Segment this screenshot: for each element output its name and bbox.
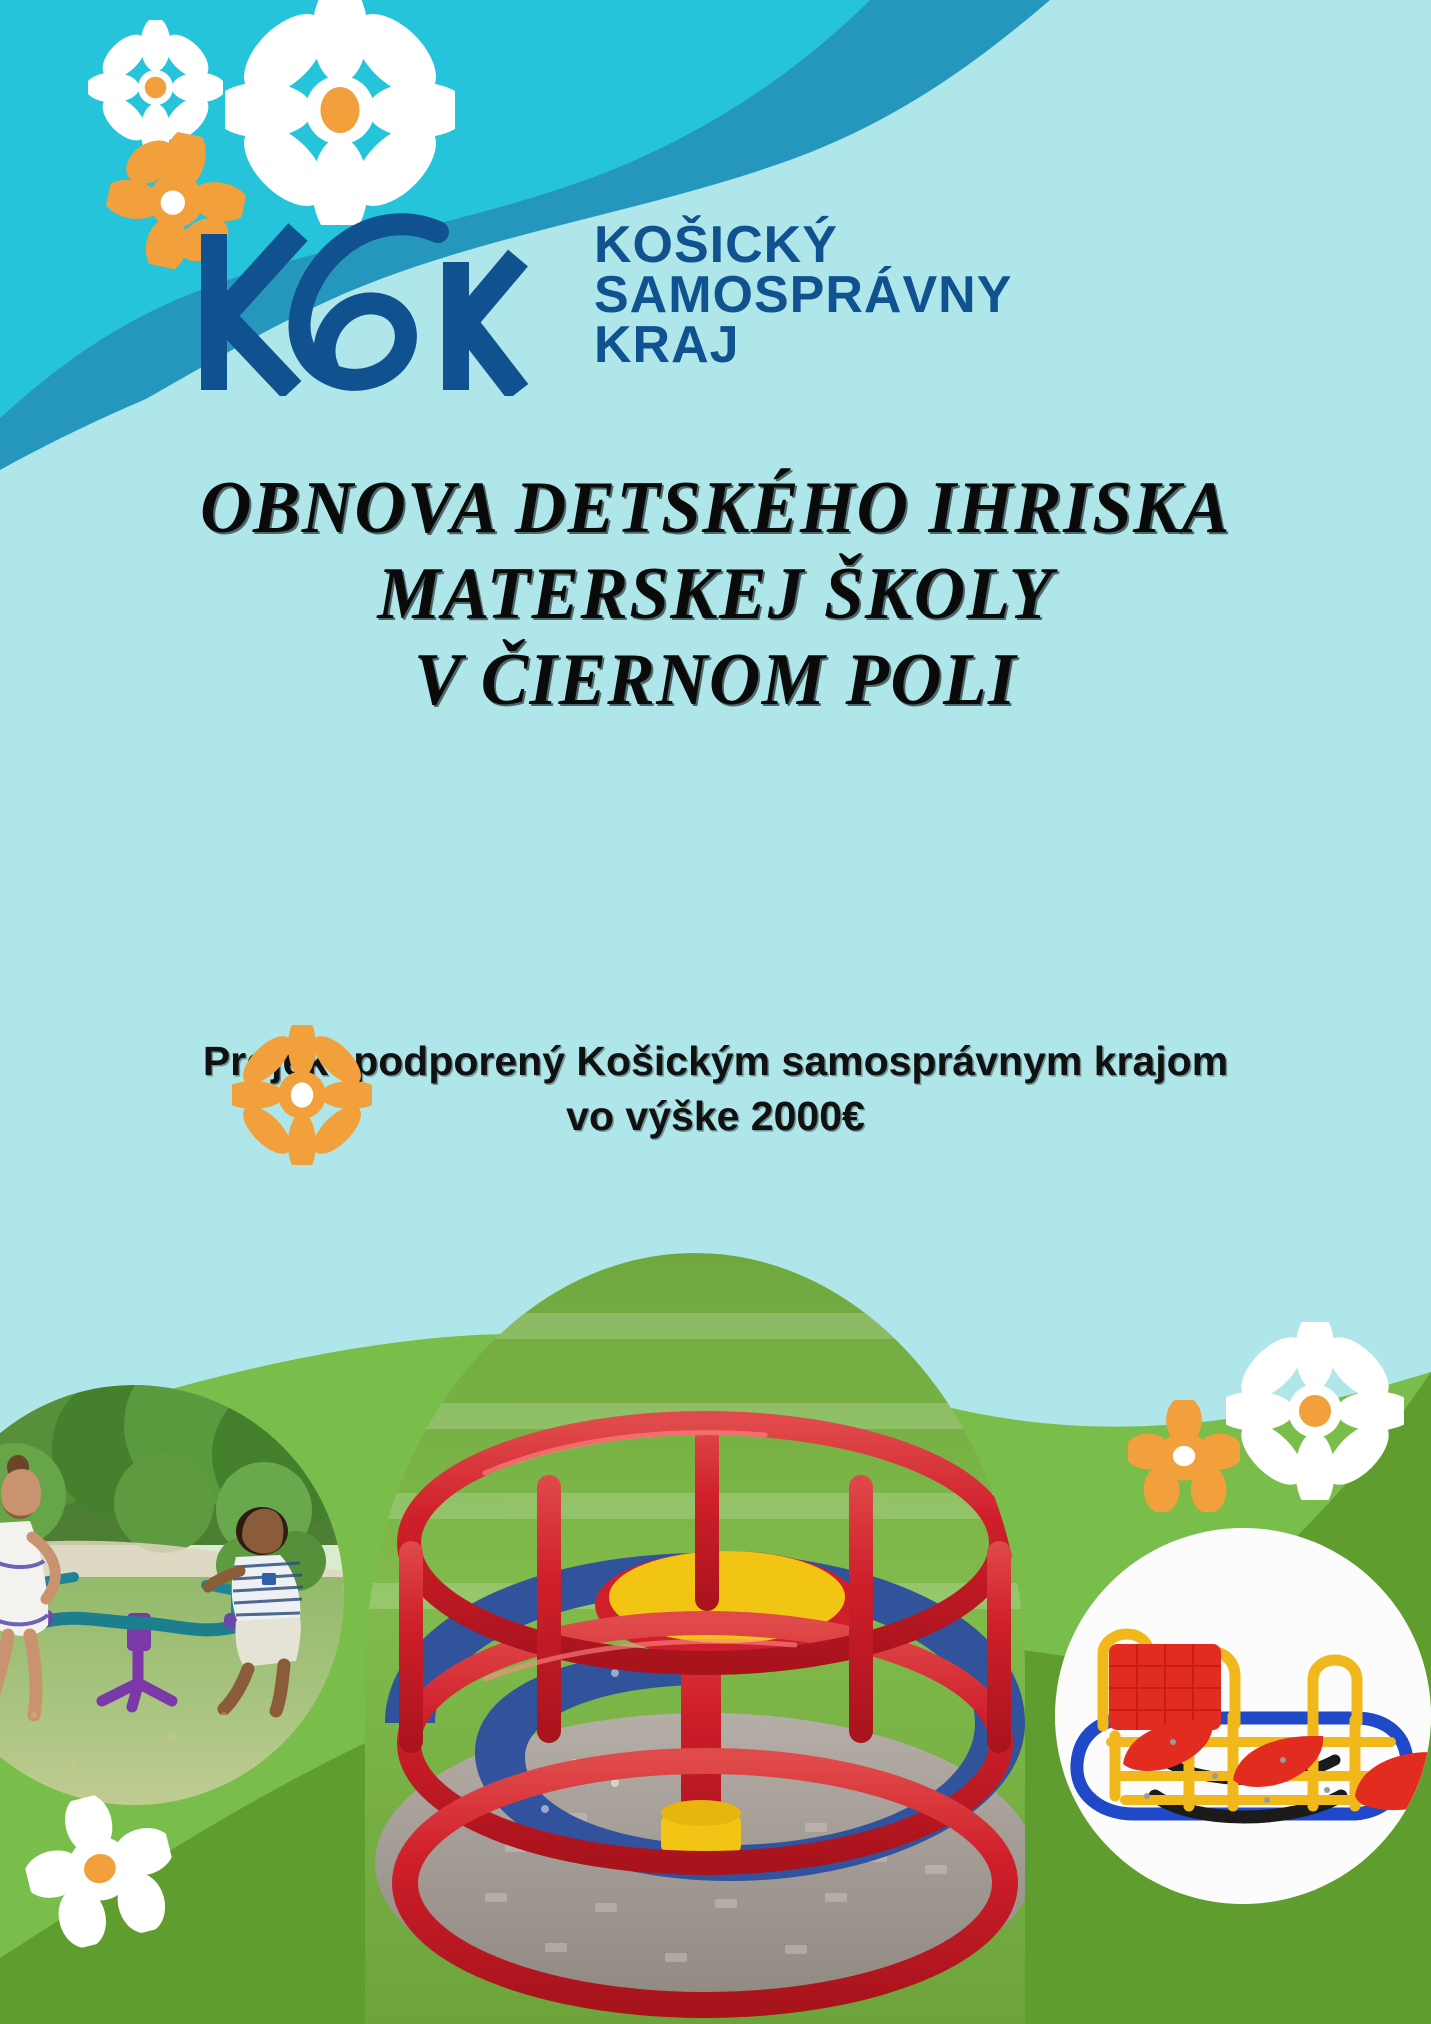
flower-orange-mid-icon	[232, 1025, 372, 1165]
photo-seesaw-product-art	[1055, 1528, 1431, 1904]
photo-seesaw-product	[1055, 1528, 1431, 1904]
ksk-logo-mark	[188, 196, 560, 396]
title-line-3: V ČIERNOM POLI	[29, 638, 1403, 724]
poster-canvas: KOŠICKÝ SAMOSPRÁVNY KRAJ OBNOVA DETSKÉHO…	[0, 0, 1431, 2024]
flower-white-bottom-right-icon	[1226, 1322, 1404, 1500]
flower-orange-bottom-right	[1128, 1400, 1240, 1518]
flower-white-bottom-right	[1226, 1322, 1404, 1507]
page-title: OBNOVA DETSKÉHO IHRISKA MATERSKEJ ŠKOLY …	[0, 466, 1431, 723]
flower-white-top-large-icon	[225, 0, 455, 225]
ksk-logo-wordmark: KOŠICKÝ SAMOSPRÁVNY KRAJ	[594, 221, 1012, 371]
flower-orange-bottom-right-icon	[1128, 1400, 1240, 1512]
subtitle-line-2: vo výške 2000€	[0, 1089, 1431, 1144]
flower-orange-mid	[232, 1025, 372, 1175]
ksk-logo: KOŠICKÝ SAMOSPRÁVNY KRAJ	[188, 196, 988, 396]
title-line-1: OBNOVA DETSKÉHO IHRISKA	[29, 466, 1403, 552]
logo-line-2: SAMOSPRÁVNY	[594, 271, 1012, 321]
subtitle: Projekt podporený Košickým samosprávnym …	[0, 1034, 1431, 1145]
subtitle-line-1: Projekt podporený Košickým samosprávnym …	[0, 1034, 1431, 1089]
title-line-2: MATERSKEJ ŠKOLY	[29, 552, 1403, 638]
logo-line-3: KRAJ	[594, 321, 1012, 371]
logo-line-1: KOŠICKÝ	[594, 221, 1012, 271]
ksk-swirl	[300, 224, 438, 380]
